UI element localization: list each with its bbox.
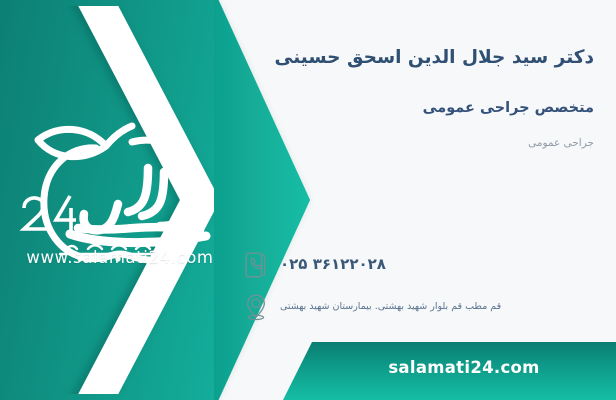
phone-book-icon xyxy=(242,250,270,280)
doctor-field: جراحی عمومی xyxy=(242,137,594,149)
doctor-name: دکتر سید جلال الدین اسحق حسینی xyxy=(242,44,594,72)
address-text: قم مطب قم بلوار شهید بهشتی. بیمارستان شه… xyxy=(280,301,501,313)
map-pin-icon xyxy=(242,292,270,322)
footer-bar: salamati24.com xyxy=(0,342,616,400)
phone-number: ۳۶۱۲۲۰۲۸ ۰۲۵ xyxy=(280,255,386,275)
phone-row[interactable]: ۳۶۱۲۲۰۲۸ ۰۲۵ xyxy=(242,250,594,280)
footer-website[interactable]: salamati24.com xyxy=(312,342,616,400)
info-column: دکتر سید جلال الدین اسحق حسینی متخصص جرا… xyxy=(242,0,594,400)
business-card: www.salamati24.com دکتر سید جلال الدین ا… xyxy=(0,0,616,400)
address-row[interactable]: قم مطب قم بلوار شهید بهشتی. بیمارستان شه… xyxy=(242,292,594,322)
doctor-specialty: متخصص جراحی عمومی xyxy=(242,100,594,116)
logo-url: www.salamati24.com xyxy=(14,248,226,267)
